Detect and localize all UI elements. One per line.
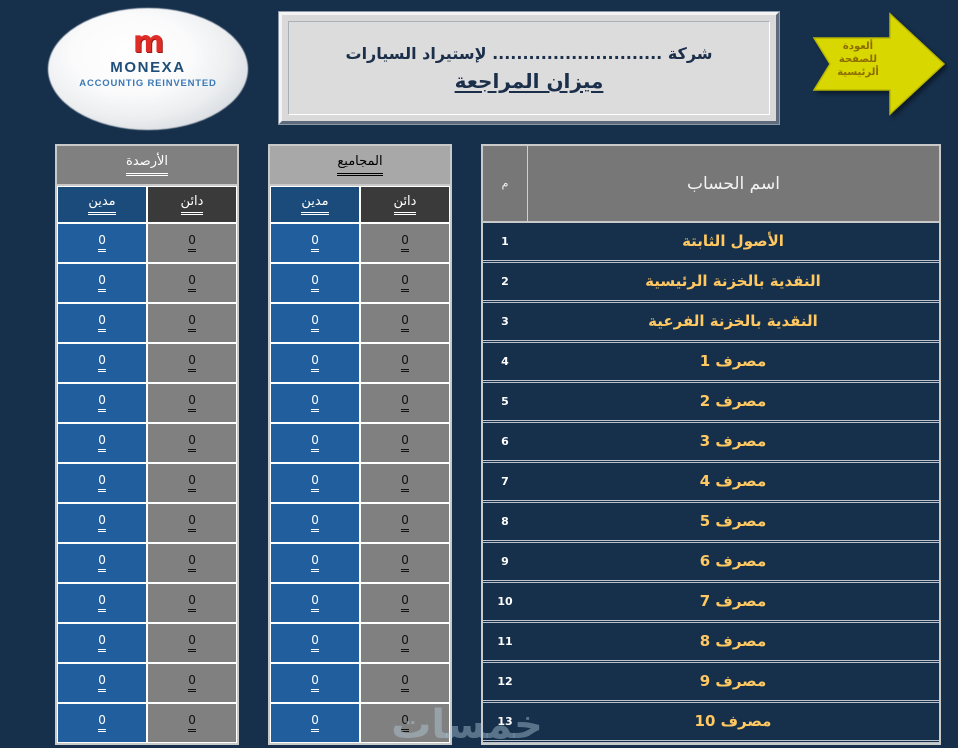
account-name: مصرف 9 — [527, 672, 939, 692]
totals-debit-header: مدين — [270, 186, 360, 223]
totals-group-label: المجاميع — [337, 154, 382, 176]
cell-value: 0 — [188, 274, 196, 292]
cell-value: 0 — [188, 634, 196, 652]
report-header-inner: شركة ............................ لإستير… — [288, 21, 770, 115]
balance-debit-cell[interactable]: 0 — [57, 463, 147, 503]
cell-value: 0 — [188, 594, 196, 612]
balance-credit-cell[interactable]: 0 — [147, 383, 237, 423]
balances-table: الأرصدة دائن مدين 0000000000000000000000… — [55, 144, 239, 745]
balance-credit-cell[interactable]: 0 — [147, 623, 237, 663]
balances-group-header: الأرصدة — [57, 146, 237, 186]
account-name: مصرف 8 — [527, 632, 939, 652]
company-logo: m MONEXA ACCOUNTIG REINVENTED — [48, 8, 248, 130]
row-number-header-label: م — [502, 177, 509, 190]
accounts-panel: اسم الحساب م الأصول الثابتة1النقدية بالخ… — [481, 144, 941, 745]
account-row-number: 4 — [483, 355, 527, 368]
total-credit-cell[interactable]: 0 — [360, 343, 450, 383]
logo-content: m MONEXA ACCOUNTIG REINVENTED — [48, 30, 248, 89]
balance-debit-cell[interactable]: 0 — [57, 663, 147, 703]
cell-value: 0 — [188, 434, 196, 452]
account-row-number: 6 — [483, 435, 527, 448]
cell-value: 0 — [401, 674, 409, 692]
cell-value: 0 — [401, 474, 409, 492]
balance-credit-cell[interactable]: 0 — [147, 303, 237, 343]
total-credit-cell[interactable]: 0 — [360, 303, 450, 343]
total-credit-cell[interactable]: 0 — [360, 223, 450, 263]
table-row: 00 — [57, 303, 237, 343]
cell-value: 0 — [401, 314, 409, 332]
monexa-m-icon: m — [48, 30, 248, 56]
row-number-header: م — [483, 146, 527, 221]
balance-credit-cell[interactable]: 0 — [147, 463, 237, 503]
account-row-number: 1 — [483, 235, 527, 248]
balance-debit-cell[interactable]: 0 — [57, 503, 147, 543]
table-row: 00 — [270, 343, 450, 383]
total-debit-cell[interactable]: 0 — [270, 383, 360, 423]
cell-value: 0 — [188, 394, 196, 412]
back-to-home-button[interactable]: ألعودة للصفحة ألرئيسية — [808, 10, 948, 118]
table-row: 00 — [270, 503, 450, 543]
account-row[interactable]: مصرف 58 — [483, 503, 939, 543]
totals-debit-label: مدين — [301, 194, 328, 215]
cell-value: 0 — [188, 354, 196, 372]
account-name: مصرف 5 — [527, 512, 939, 532]
cell-value: 0 — [401, 354, 409, 372]
cell-value: 0 — [311, 554, 319, 572]
account-name-header-label: اسم الحساب — [687, 174, 780, 194]
cell-value: 0 — [311, 234, 319, 252]
balance-debit-cell[interactable]: 0 — [57, 703, 147, 743]
total-debit-cell[interactable]: 0 — [270, 423, 360, 463]
table-row: 00 — [270, 223, 450, 263]
account-name: مصرف 1 — [527, 352, 939, 372]
cell-value: 0 — [401, 594, 409, 612]
cell-value: 0 — [311, 314, 319, 332]
balance-credit-cell[interactable]: 0 — [147, 423, 237, 463]
table-row: 00 — [57, 703, 237, 743]
right-arrow-icon — [808, 10, 948, 118]
balances-subheader-row: دائن مدين — [57, 186, 237, 223]
cell-value: 0 — [311, 674, 319, 692]
total-debit-cell[interactable]: 0 — [270, 703, 360, 743]
total-debit-cell[interactable]: 0 — [270, 583, 360, 623]
account-row[interactable]: مصرف 912 — [483, 663, 939, 703]
balances-debit-label: مدين — [88, 194, 115, 215]
table-row: 00 — [57, 223, 237, 263]
table-row: 00 — [270, 623, 450, 663]
cell-value: 0 — [311, 434, 319, 452]
account-name-header: اسم الحساب — [527, 146, 939, 221]
total-credit-cell[interactable]: 0 — [360, 423, 450, 463]
cell-value: 0 — [401, 234, 409, 252]
cell-value: 0 — [98, 394, 106, 412]
account-row-number: 13 — [483, 715, 527, 728]
total-credit-cell[interactable]: 0 — [360, 583, 450, 623]
account-row[interactable]: الأصول الثابتة1 — [483, 223, 939, 263]
account-row[interactable]: مصرف 710 — [483, 583, 939, 623]
balance-debit-cell[interactable]: 0 — [57, 543, 147, 583]
balances-group-label: الأرصدة — [126, 154, 168, 176]
balance-debit-cell[interactable]: 0 — [57, 343, 147, 383]
cell-value: 0 — [98, 554, 106, 572]
account-row[interactable]: مصرف 69 — [483, 543, 939, 583]
cell-value: 0 — [401, 434, 409, 452]
cell-value: 0 — [311, 274, 319, 292]
total-debit-cell[interactable]: 0 — [270, 263, 360, 303]
table-row: 00 — [57, 583, 237, 623]
balance-credit-cell[interactable]: 0 — [147, 663, 237, 703]
cell-value: 0 — [401, 514, 409, 532]
account-row[interactable]: مصرف 25 — [483, 383, 939, 423]
table-row: 00 — [270, 583, 450, 623]
account-row-number: 5 — [483, 395, 527, 408]
cell-value: 0 — [98, 674, 106, 692]
account-row[interactable]: مصرف 811 — [483, 623, 939, 663]
cell-value: 0 — [311, 354, 319, 372]
account-name: مصرف 6 — [527, 552, 939, 572]
cell-value: 0 — [98, 434, 106, 452]
account-row-number: 7 — [483, 475, 527, 488]
account-name: مصرف 2 — [527, 392, 939, 412]
table-row: 00 — [57, 343, 237, 383]
account-row-number: 3 — [483, 315, 527, 328]
account-row[interactable]: مصرف 1013 — [483, 703, 939, 743]
account-row[interactable]: مصرف 36 — [483, 423, 939, 463]
cell-value: 0 — [98, 714, 106, 732]
cell-value: 0 — [98, 354, 106, 372]
balances-credit-header: دائن — [147, 186, 237, 223]
totals-credit-label: دائن — [394, 194, 417, 215]
total-credit-cell[interactable]: 0 — [360, 383, 450, 423]
cell-value: 0 — [311, 394, 319, 412]
table-row: 00 — [270, 263, 450, 303]
page-title: ميزان المراجعة — [455, 69, 604, 93]
account-row-number: 2 — [483, 275, 527, 288]
balance-credit-cell[interactable]: 0 — [147, 263, 237, 303]
account-name: النقدية بالخزنة الفرعية — [527, 312, 939, 332]
table-row: 00 — [57, 663, 237, 703]
balance-credit-cell[interactable]: 0 — [147, 583, 237, 623]
table-row: 00 — [57, 423, 237, 463]
cell-value: 0 — [311, 514, 319, 532]
total-debit-cell[interactable]: 0 — [270, 343, 360, 383]
balance-debit-cell[interactable]: 0 — [57, 623, 147, 663]
cell-value: 0 — [401, 714, 409, 732]
cell-value: 0 — [98, 314, 106, 332]
total-debit-cell[interactable]: 0 — [270, 303, 360, 343]
balance-debit-cell[interactable]: 0 — [57, 263, 147, 303]
total-debit-cell[interactable]: 0 — [270, 463, 360, 503]
balance-debit-cell[interactable]: 0 — [57, 383, 147, 423]
account-name: مصرف 4 — [527, 472, 939, 492]
total-credit-cell[interactable]: 0 — [360, 463, 450, 503]
cell-value: 0 — [311, 714, 319, 732]
table-row: 00 — [270, 463, 450, 503]
total-credit-cell[interactable]: 0 — [360, 623, 450, 663]
table-row: 00 — [57, 503, 237, 543]
table-row: 00 — [270, 703, 450, 743]
balances-body: 00000000000000000000000000 — [57, 223, 237, 743]
account-row-number: 9 — [483, 555, 527, 568]
total-credit-cell[interactable]: 0 — [360, 503, 450, 543]
total-debit-cell[interactable]: 0 — [270, 543, 360, 583]
cell-value: 0 — [401, 394, 409, 412]
accounts-body: الأصول الثابتة1النقدية بالخزنة الرئيسية2… — [483, 223, 939, 743]
account-name: الأصول الثابتة — [527, 232, 939, 252]
cell-value: 0 — [98, 474, 106, 492]
account-row-number: 10 — [483, 595, 527, 608]
totals-table: المجاميع دائن مدين 000000000000000000000… — [268, 144, 452, 745]
account-row[interactable]: مصرف 47 — [483, 463, 939, 503]
accounts-header-row: اسم الحساب م — [483, 146, 939, 223]
total-credit-cell[interactable]: 0 — [360, 543, 450, 583]
total-credit-cell[interactable]: 0 — [360, 663, 450, 703]
logo-brand-name: MONEXA — [48, 59, 248, 76]
cell-value: 0 — [188, 314, 196, 332]
totals-body: 00000000000000000000000000 — [270, 223, 450, 743]
cell-value: 0 — [98, 274, 106, 292]
table-row: 00 — [57, 383, 237, 423]
balance-credit-cell[interactable]: 0 — [147, 503, 237, 543]
total-debit-cell[interactable]: 0 — [270, 223, 360, 263]
account-row-number: 12 — [483, 675, 527, 688]
balance-debit-cell[interactable]: 0 — [57, 583, 147, 623]
total-credit-cell[interactable]: 0 — [360, 263, 450, 303]
report-header-plate: شركة ............................ لإستير… — [279, 12, 779, 124]
company-name-line: شركة ............................ لإستير… — [345, 44, 712, 63]
table-row: 00 — [270, 423, 450, 463]
account-row[interactable]: النقدية بالخزنة الرئيسية2 — [483, 263, 939, 303]
balances-debit-header: مدين — [57, 186, 147, 223]
total-debit-cell[interactable]: 0 — [270, 503, 360, 543]
cell-value: 0 — [98, 634, 106, 652]
cell-value: 0 — [311, 474, 319, 492]
cell-value: 0 — [188, 514, 196, 532]
totals-subheader-row: دائن مدين — [270, 186, 450, 223]
cell-value: 0 — [401, 274, 409, 292]
cell-value: 0 — [98, 514, 106, 532]
account-name: النقدية بالخزنة الرئيسية — [527, 272, 939, 292]
account-row-number: 11 — [483, 635, 527, 648]
table-row: 00 — [270, 303, 450, 343]
totals-group-header: المجاميع — [270, 146, 450, 186]
cell-value: 0 — [188, 234, 196, 252]
account-name: مصرف 10 — [527, 712, 939, 732]
table-row: 00 — [270, 543, 450, 583]
cell-value: 0 — [188, 674, 196, 692]
table-row: 00 — [270, 383, 450, 423]
table-row: 00 — [57, 263, 237, 303]
cell-value: 0 — [188, 714, 196, 732]
cell-value: 0 — [401, 554, 409, 572]
totals-credit-header: دائن — [360, 186, 450, 223]
account-name: مصرف 7 — [527, 592, 939, 612]
table-row: 00 — [270, 663, 450, 703]
balance-credit-cell[interactable]: 0 — [147, 223, 237, 263]
total-debit-cell[interactable]: 0 — [270, 623, 360, 663]
table-row: 00 — [57, 543, 237, 583]
balance-debit-cell[interactable]: 0 — [57, 303, 147, 343]
table-row: 00 — [57, 623, 237, 663]
balance-credit-cell[interactable]: 0 — [147, 543, 237, 583]
account-row[interactable]: مصرف 14 — [483, 343, 939, 383]
cell-value: 0 — [188, 474, 196, 492]
account-row[interactable]: النقدية بالخزنة الفرعية3 — [483, 303, 939, 343]
cell-value: 0 — [311, 594, 319, 612]
balance-credit-cell[interactable]: 0 — [147, 343, 237, 383]
cell-value: 0 — [401, 634, 409, 652]
balance-debit-cell[interactable]: 0 — [57, 223, 147, 263]
account-row-number: 8 — [483, 515, 527, 528]
cell-value: 0 — [188, 554, 196, 572]
cell-value: 0 — [311, 634, 319, 652]
cell-value: 0 — [98, 594, 106, 612]
logo-tagline: ACCOUNTIG REINVENTED — [48, 78, 248, 89]
balances-credit-label: دائن — [181, 194, 204, 215]
total-credit-cell[interactable]: 0 — [360, 703, 450, 743]
account-name: مصرف 3 — [527, 432, 939, 452]
trial-balance-screen: m MONEXA ACCOUNTIG REINVENTED شركة .....… — [0, 0, 958, 748]
balance-credit-cell[interactable]: 0 — [147, 703, 237, 743]
total-debit-cell[interactable]: 0 — [270, 663, 360, 703]
table-row: 00 — [57, 463, 237, 503]
balance-debit-cell[interactable]: 0 — [57, 423, 147, 463]
cell-value: 0 — [98, 234, 106, 252]
